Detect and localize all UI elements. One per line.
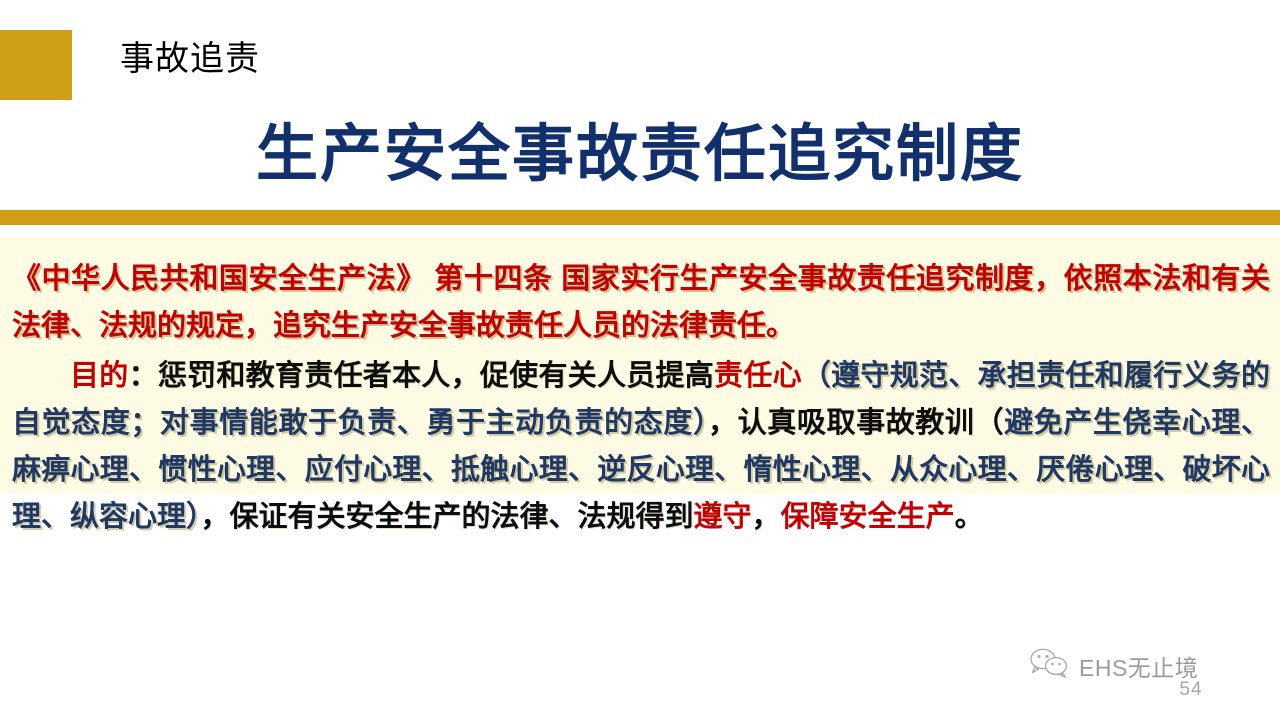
- purpose-label: 目的: [70, 360, 129, 392]
- purpose-emphasis-safety: 保障安全生产: [781, 501, 955, 533]
- watermark-label: EHS无止境: [1079, 649, 1198, 683]
- purpose-emphasis-comply: 遵守: [694, 501, 752, 533]
- purpose-text-3: ，保证有关安全生产的法律、法规得到: [201, 501, 694, 533]
- purpose-text-4: ，: [752, 501, 781, 533]
- body-content: 《中华人民共和国安全生产法》 第十四条 国家实行生产安全事故责任追究制度，依照本…: [12, 256, 1270, 541]
- watermark: EHS无止境: [1028, 648, 1198, 683]
- slide-kicker: 事故追责: [120, 40, 260, 79]
- law-citation-paragraph: 《中华人民共和国安全生产法》 第十四条 国家实行生产安全事故责任追究制度，依照本…: [12, 256, 1270, 350]
- page-title: 生产安全事故责任追究制度: [0, 103, 1280, 193]
- gold-accent-square: [0, 30, 72, 100]
- purpose-paragraph: 目的：惩罚和教育责任者本人，促使有关人员提高责任心（遵守规范、承担责任和履行义务…: [12, 353, 1270, 541]
- purpose-emphasis-duty: 责任心: [714, 360, 802, 392]
- wechat-icon: [1028, 648, 1072, 683]
- purpose-text-1: ：惩罚和教育责任者本人，促使有关人员提高: [129, 360, 714, 392]
- page-number: 54: [1166, 679, 1216, 701]
- purpose-text-2: ，认真吸取事故教训（: [708, 407, 1004, 439]
- slide-canvas: 事故追责 生产安全事故责任追究制度 《中华人民共和国安全生产法》 第十四条 国家…: [0, 0, 1280, 720]
- purpose-text-5: 。: [955, 501, 984, 533]
- gold-divider-rule: [0, 210, 1280, 225]
